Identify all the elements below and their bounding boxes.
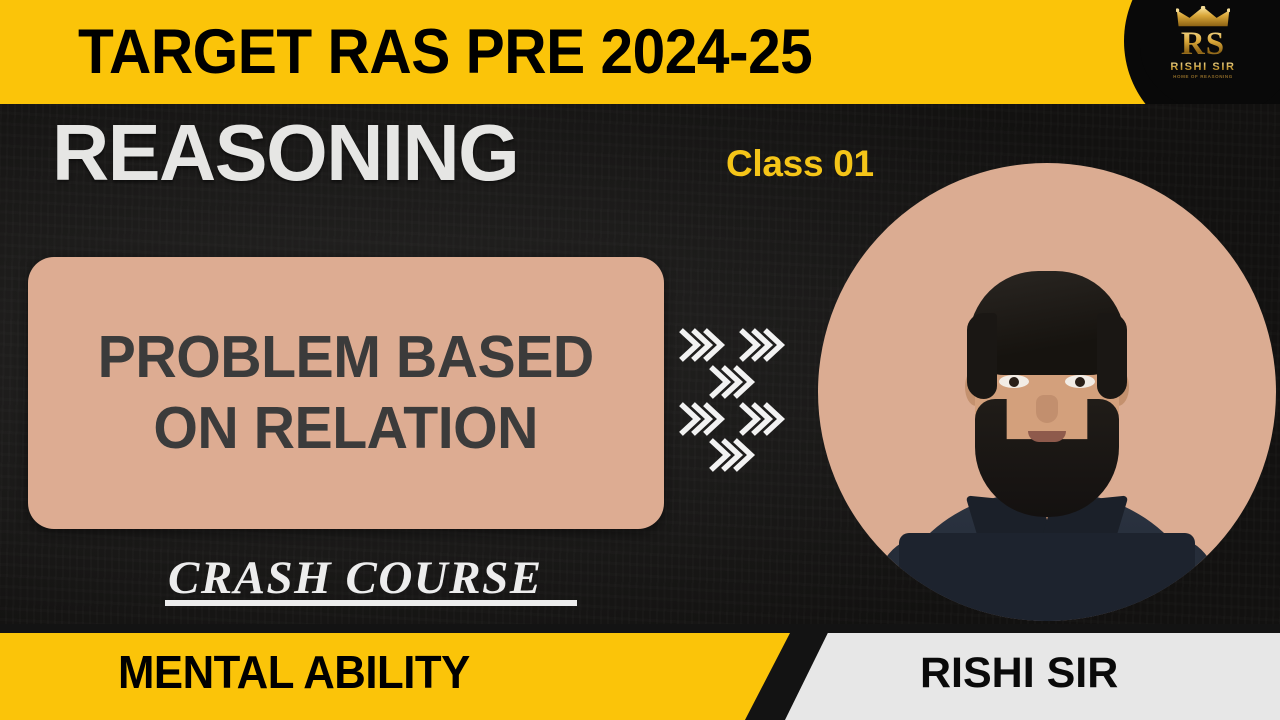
triple-chevron-right-icon xyxy=(678,325,726,365)
page-title: REASONING xyxy=(52,112,518,194)
chevron-cluster xyxy=(672,325,796,475)
portrait-pupil-right xyxy=(1075,377,1085,387)
top-banner: TARGET RAS PRE 2024-25 RS RISHI SIR xyxy=(0,0,1280,104)
topic-line-2: ON RELATION xyxy=(154,395,539,461)
portrait-hair-side-left xyxy=(967,313,997,399)
crash-course-badge: CRASH COURSE xyxy=(168,550,543,606)
portrait-pupil-left xyxy=(1009,377,1019,387)
topic-card: PROBLEM BASED ON RELATION xyxy=(28,257,664,529)
logo-tagline: HOME OF REASONING xyxy=(1154,73,1252,80)
portrait-mouth xyxy=(1028,431,1066,442)
logo-monogram: RS xyxy=(1154,27,1252,61)
footer-subject-label: MENTAL ABILITY xyxy=(118,646,470,698)
triple-chevron-right-icon xyxy=(708,435,756,475)
topic-card-text: PROBLEM BASED ON RELATION xyxy=(98,322,594,464)
triple-chevron-right-icon xyxy=(708,362,756,402)
footer-teacher-label: RISHI SIR xyxy=(920,648,1118,698)
footer-bar: MENTAL ABILITY RISHI SIR xyxy=(0,624,1280,720)
portrait-hair-side-right xyxy=(1097,313,1127,399)
presenter-portrait xyxy=(818,163,1276,621)
portrait-torso-base xyxy=(899,533,1195,621)
triple-chevron-right-icon xyxy=(678,399,726,439)
crash-course-underline xyxy=(165,600,577,606)
thumbnail-canvas: TARGET RAS PRE 2024-25 RS RISHI SIR xyxy=(0,0,1280,720)
logo-name: RISHI SIR xyxy=(1154,61,1252,73)
triple-chevron-right-icon xyxy=(738,399,786,439)
banner-title: TARGET RAS PRE 2024-25 xyxy=(78,16,812,88)
triple-chevron-right-icon xyxy=(738,325,786,365)
portrait-nose xyxy=(1036,395,1058,423)
topic-line-1: PROBLEM BASED xyxy=(98,324,594,390)
brand-logo: RS RISHI SIR HOME OF REASONING xyxy=(1154,6,1252,98)
portrait-disc xyxy=(818,163,1276,621)
crown-icon xyxy=(1176,6,1230,28)
